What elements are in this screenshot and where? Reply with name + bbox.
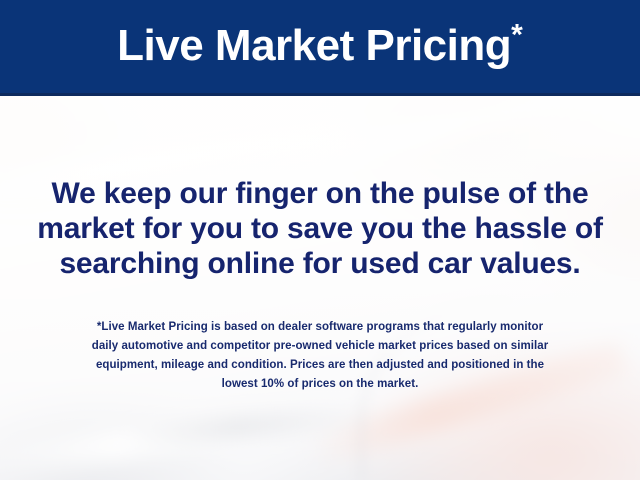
page-title-asterisk: * bbox=[511, 18, 523, 51]
header-bottom-rule bbox=[0, 93, 640, 96]
disclaimer-line: daily automotive and competitor pre-owne… bbox=[0, 337, 640, 356]
live-market-pricing-banner: Live Market Pricing* We keep our finger … bbox=[0, 0, 640, 480]
page-title-text: Live Market Pricing bbox=[117, 21, 511, 70]
headline-line: We keep our finger on the pulse of the bbox=[0, 176, 640, 211]
headline-line: market for you to save you the hassle of bbox=[0, 211, 640, 246]
disclaimer-line: lowest 10% of prices on the market. bbox=[0, 375, 640, 394]
disclaimer-line: *Live Market Pricing is based on dealer … bbox=[0, 318, 640, 337]
disclaimer: *Live Market Pricing is based on dealer … bbox=[0, 318, 640, 394]
headline: We keep our finger on the pulse of the m… bbox=[0, 176, 640, 281]
page-title: Live Market Pricing* bbox=[117, 24, 523, 70]
headline-line: searching online for used car values. bbox=[0, 246, 640, 281]
disclaimer-line: equipment, mileage and condition. Prices… bbox=[0, 356, 640, 375]
header-band: Live Market Pricing* bbox=[0, 0, 640, 93]
